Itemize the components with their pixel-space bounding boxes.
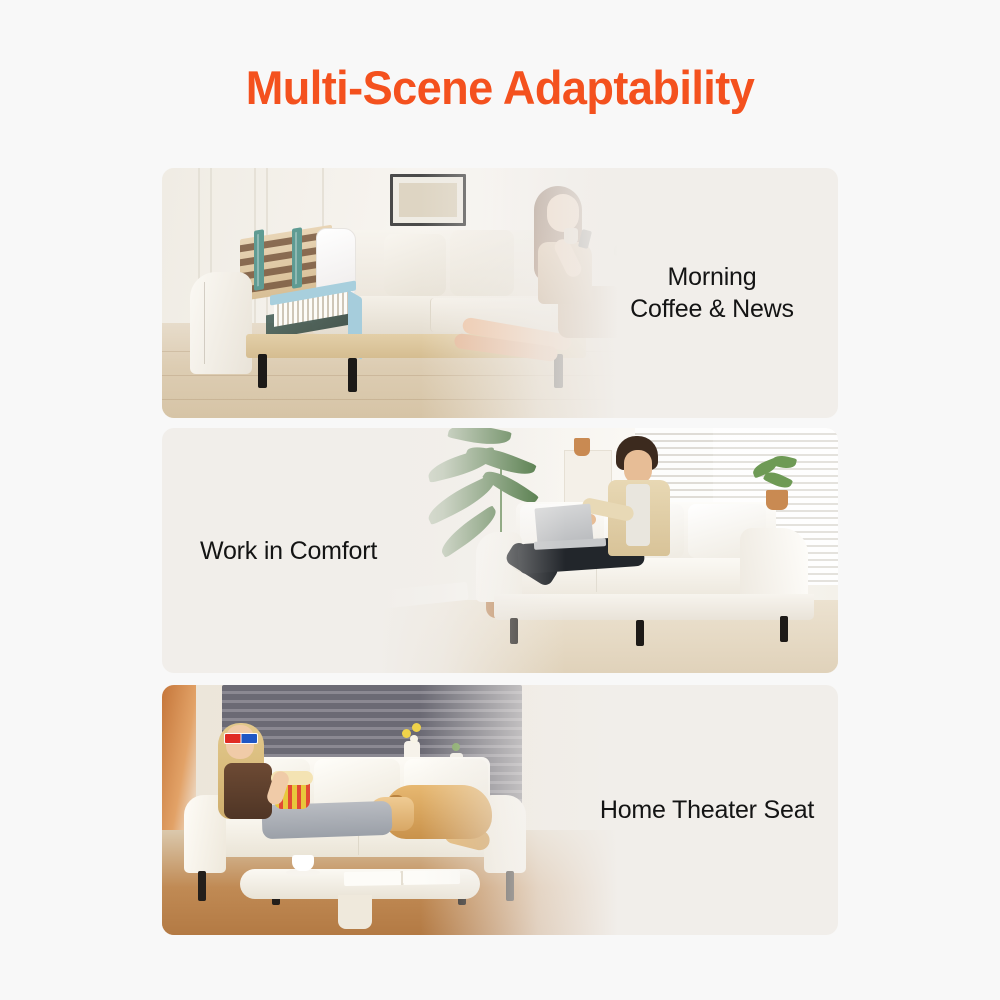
wall-moulding [266,168,268,323]
sofa-seat-cushion [430,298,551,332]
dog-nose [362,815,369,821]
sofa-armrest-right [484,795,526,873]
sofa-skirt [494,594,814,620]
back-cushion [520,504,600,558]
sofa-leg [348,358,357,392]
saucer [286,869,320,876]
plant-leaf [751,458,780,479]
back-cushion [224,759,310,817]
man-legs [517,536,645,575]
sofa-leg [636,620,644,646]
woman-jeans [261,801,392,840]
window-blinds [635,428,713,555]
wall [162,168,632,323]
plant-leaf [614,240,632,256]
white-flower [410,735,418,743]
palm-leaf [447,428,511,450]
wall-moulding [198,168,200,323]
flower-vase [404,741,420,773]
scene-caption-work: Work in Comfort [200,535,500,567]
wood-slat [240,231,332,253]
dog-head [368,797,414,831]
sofa-leg [506,871,514,901]
woman-leg [461,317,572,352]
woman-arm [265,769,291,806]
plant-leaf [763,468,793,491]
yellow-flower [402,729,411,738]
scene-photo-morning [162,168,632,418]
palm-stem [500,458,502,580]
sofa-leg [258,354,267,388]
laptop-keyboard [534,538,606,550]
sofa-wood-base [246,334,586,358]
floor-plank-line [162,375,632,376]
sofa-armrest-right [740,528,808,618]
man-head [624,450,652,484]
spring-coil-row [274,287,352,327]
sofa-wood-slat-frame [240,225,332,302]
floor-plank-line [162,351,632,352]
foam-edge [270,280,356,305]
smartphone [578,229,592,249]
scene-caption-morning: Morning Coffee & News [592,261,832,325]
back-cushion [688,504,766,558]
dog-body [384,785,492,839]
scene-caption-theater: Home Theater Seat [582,794,832,826]
wood-slat [240,259,332,281]
dog-snout [364,813,384,826]
palm-leaf [425,447,498,483]
coffee-cup [292,855,314,871]
window-blinds [222,685,522,810]
sofa-seat [210,817,502,857]
wall-art-frame [390,174,466,226]
sofa-leg [458,875,466,905]
teal-elastic-strap [254,229,264,291]
back-cushion [314,759,400,817]
yellow-flower [412,723,421,732]
side-table [368,582,469,612]
sofa-backrest [220,757,490,819]
wood-floor [162,323,632,418]
sofa-leg [510,618,518,644]
man-hair [616,436,658,470]
popcorn-bucket [274,779,310,809]
sofa-seat-divider [596,560,597,592]
palm-leaf [423,474,500,525]
palm-leaf [465,439,537,482]
scene-photo-theater [162,685,632,935]
man-hand [578,514,596,525]
coffee-cup [564,228,578,244]
man-tshirt [626,484,650,546]
wall-moulding [254,168,256,323]
wood-slat [240,273,332,295]
marketing-page: Multi-Scene Adaptability [0,0,1000,1000]
sofa-inner-frame [266,301,350,340]
illustration-theater-scene [162,685,632,935]
wood-slat [240,245,332,267]
green-sprig [452,743,460,751]
woman-leg [453,333,558,362]
white-cutaway-pillow [316,228,356,296]
sofa-seat [506,558,796,594]
teal-elastic-strap [292,227,302,289]
woman-head [226,725,254,759]
sofa-leg [272,875,280,905]
back-cushion [604,504,684,558]
man-shirt [608,480,670,556]
sofa-backrest [312,230,572,302]
sofa-leg [780,616,788,642]
3d-glasses [224,733,258,744]
scene-card-work: Work in Comfort [162,428,838,673]
page-title: Multi-Scene Adaptability [20,62,980,114]
laptop-screen [534,504,593,547]
wall-moulding [210,168,212,323]
scene-card-theater: Home Theater Seat [162,685,838,935]
sofa-seat-divider [358,819,359,855]
back-cushion [384,234,446,296]
back-cushion [450,230,514,296]
wall-moulding [322,168,324,323]
man-arm [581,497,635,522]
sofa-armrest-left [184,795,226,873]
coffee-table [240,869,480,899]
woman-top [224,763,272,819]
sofa-leg [554,354,563,388]
floor-lamp-glow [162,685,196,830]
wall [368,428,838,600]
illustration-morning-scene [162,168,632,418]
sofa-leg [198,871,206,901]
dog-ear [388,795,404,817]
dog-tail [442,822,491,853]
small-vase [450,753,463,775]
bolster-cushion [509,543,575,574]
window-blinds [638,428,838,585]
plant-leaf [771,453,797,470]
open-magazine [344,870,460,886]
plant-pot [766,490,788,510]
wall-shelf [564,450,612,538]
man-lower-leg [504,540,561,588]
woman-torso [538,242,592,304]
woman-hair [534,186,582,282]
woman-head [547,194,579,232]
floor-plank-line [162,399,632,400]
coffee-table-leg [338,895,372,929]
wood-floor [162,830,632,935]
palm-pot [486,576,518,618]
sofa-armrest [190,272,252,374]
wood-floor [368,600,838,674]
back-cushion [404,759,488,817]
woman-arm [552,237,584,280]
shelf-plant-pot [574,438,590,456]
foam-side-panel [348,290,362,360]
wall [162,685,632,830]
woman-hair [218,723,264,819]
sofa-seat [312,296,612,334]
sofa-backrest [516,502,776,560]
palm-leaf [482,464,539,510]
scene-card-morning: Morning Coffee & News [162,168,838,418]
